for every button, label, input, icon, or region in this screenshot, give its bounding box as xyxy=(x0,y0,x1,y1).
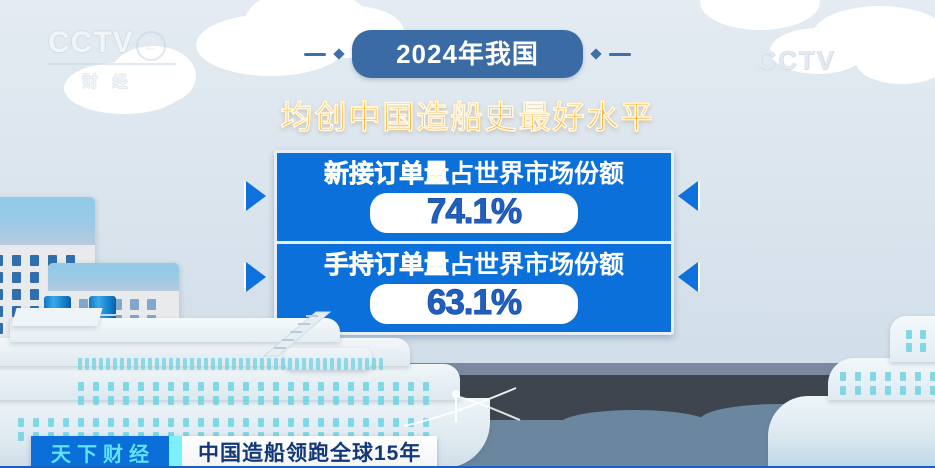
title-row: 2024年我国 xyxy=(0,30,935,78)
ship-rigging xyxy=(400,382,550,430)
row-heading: 手持订单量占世界市场份额 xyxy=(277,249,671,281)
arrow-left-icon xyxy=(678,262,698,292)
row-heading-plain: 占世界市场份额 xyxy=(449,160,624,188)
page-title: 2024年我国 xyxy=(352,30,583,78)
porthole-grid xyxy=(78,382,429,405)
lower-third: 天下财经 中国造船领跑全球15年 xyxy=(31,436,437,468)
right-ship-hull xyxy=(768,396,935,468)
cruise-ship-bridge xyxy=(11,308,102,326)
arrow-left-icon xyxy=(678,181,698,211)
arrow-right-icon xyxy=(246,181,266,211)
gangway-stairs xyxy=(260,310,350,360)
data-panel: 新接订单量占世界市场份额 74.1% 手持订单量占世界市场份额 63.1% xyxy=(274,150,674,335)
right-ship-porthole-grid xyxy=(840,372,935,395)
arrow-right-icon xyxy=(246,262,266,292)
row-heading: 新接订单量占世界市场份额 xyxy=(277,158,671,190)
data-row: 新接订单量占世界市场份额 74.1% xyxy=(277,153,671,241)
status-badge: 63.1% xyxy=(370,284,578,324)
row-heading-highlight: 新接订单量 xyxy=(324,160,449,188)
row-heading-plain: 占世界市场份额 xyxy=(449,251,624,279)
status-badge: 74.1% xyxy=(370,193,578,233)
wave xyxy=(560,410,710,438)
right-ship-tower-window xyxy=(906,330,926,352)
subtitle: 均创中国造船史最好水平 xyxy=(0,92,935,138)
lower-third-divider xyxy=(169,436,182,468)
tick-dot-left xyxy=(333,48,344,59)
headline: 中国造船领跑全球15年 xyxy=(182,436,437,468)
tick-line-right xyxy=(609,53,631,56)
row-heading-highlight: 手持订单量 xyxy=(324,251,449,279)
tick-line-left xyxy=(304,53,326,56)
broadcast-screen: CCTV2 财经 CCTV xyxy=(0,0,935,468)
program-name: 天下财经 xyxy=(31,436,169,468)
tick-dot-right xyxy=(590,48,601,59)
